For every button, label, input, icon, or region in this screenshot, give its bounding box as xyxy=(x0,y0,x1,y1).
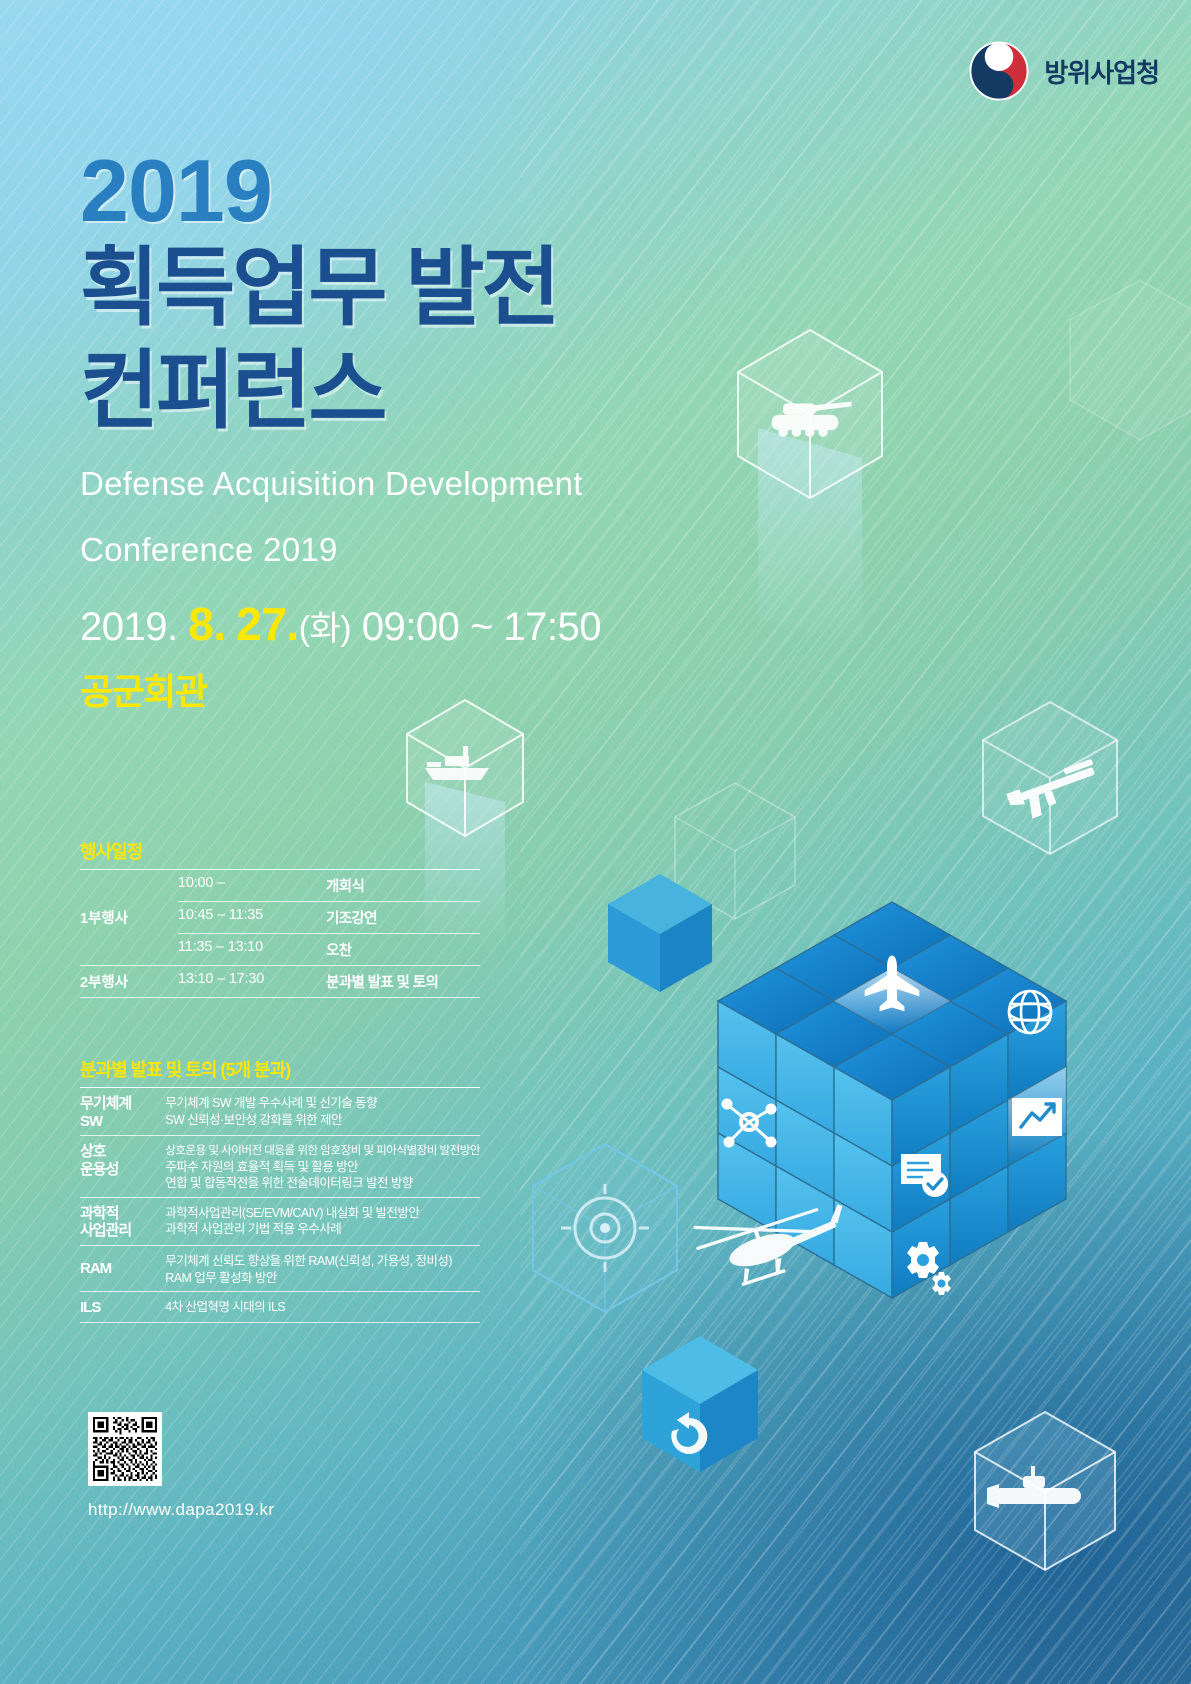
tank-cube-graphic xyxy=(710,318,910,648)
session-name-line1: 상호 xyxy=(80,1143,165,1161)
schedule-topic: 개회식 xyxy=(326,870,480,902)
schedule-heading: 행사일정 xyxy=(80,838,480,864)
schedule-time: 10:00 – xyxy=(178,870,326,902)
table-row: 10:00 – 개회식 xyxy=(80,870,480,902)
table-row: 과학적 사업관리 과학적사업관리(SE/EVM/CAIV) 내실화 및 발전방안… xyxy=(80,1197,480,1245)
qr-footer: http://www.dapa2019.kr xyxy=(88,1412,274,1520)
event-date-line: 2019. 8. 27.(화) 09:00 ~ 17:50 xyxy=(80,597,720,651)
schedule-table: 10:00 – 개회식 1부행사 10:45 – 11:35 기조강연 11:3… xyxy=(80,869,480,998)
session-topics: 4차 산업혁명 시대의 ILS xyxy=(165,1292,480,1323)
schedule-part: 2부행사 xyxy=(80,966,178,998)
table-row: 무기체계 SW 무기체계 SW 개발 우수사례 및 신기술 동향 SW 신뢰성·… xyxy=(80,1088,480,1136)
session-topics: 무기체계 신뢰도 향상을 위한 RAM(신뢰성, 가용성, 정비성) RAM 업… xyxy=(165,1246,480,1292)
session-name: 과학적 사업관리 xyxy=(80,1197,165,1245)
agency-logo: 방위사업청 xyxy=(968,40,1159,102)
session-name-line1: RAM xyxy=(80,1260,165,1278)
korea-taegeuk-emblem-icon xyxy=(968,40,1030,102)
airplane-icon xyxy=(865,955,920,1011)
date-month: 8. xyxy=(188,598,225,650)
qr-code-icon[interactable] xyxy=(88,1412,162,1486)
schedule-time: 10:45 – 11:35 xyxy=(178,902,326,934)
submarine-cube-graphic xyxy=(945,1400,1145,1600)
schedule-part xyxy=(80,870,178,902)
refresh-cube-graphic xyxy=(630,1330,770,1480)
date-weekday: (화) xyxy=(299,610,351,648)
gears-icon xyxy=(907,1242,951,1295)
event-venue: 공군회관 xyxy=(80,663,720,715)
crosshair-cube-graphic xyxy=(505,1130,705,1330)
session-name-line2: 사업관리 xyxy=(80,1222,165,1240)
session-name: 무기체계 SW xyxy=(80,1088,165,1136)
ghost-cube-graphic xyxy=(660,775,810,925)
schedule-topic: 분과별 발표 및 토의 xyxy=(326,966,480,998)
schedule-part: 1부행사 xyxy=(80,902,178,934)
schedule-section: 행사일정 10:00 – 개회식 1부행사 10:45 – 11:35 기조강연… xyxy=(80,838,480,998)
poster-title-en-line2: Conference 2019 xyxy=(80,529,720,571)
table-row: 11:35 – 13:10 오찬 xyxy=(80,934,480,966)
poster-title-en-line1: Defense Acquisition Development xyxy=(80,463,720,505)
event-time-range: 09:00 ~ 17:50 xyxy=(362,605,601,649)
poster-root: 방위사업청 2019 획득업무 발전 컨퍼런스 Defense Acquisit… xyxy=(0,0,1191,1684)
small-solid-cube-graphic xyxy=(600,868,720,998)
table-row: 1부행사 10:45 – 11:35 기조강연 xyxy=(80,902,480,934)
chart-trend-icon xyxy=(1012,1098,1062,1136)
session-name-line1: 과학적 xyxy=(80,1205,165,1223)
sessions-section: 분과별 발표 및 토의 (5개 분과) 무기체계 SW 무기체계 SW 개발 우… xyxy=(80,1056,480,1323)
website-url[interactable]: http://www.dapa2019.kr xyxy=(88,1500,274,1520)
faint-cube-far-right xyxy=(1050,270,1191,470)
poster-title-ko-line1: 획득업무 발전 xyxy=(80,240,720,336)
session-topic: 과학적 사업관리 기법 적용 우수사례 xyxy=(165,1221,480,1238)
helicopter-icon xyxy=(689,1180,856,1296)
table-row: 상호 운용성 상호운용 및 사이버전 대응을 위한 암호장비 및 피아식별장비 … xyxy=(80,1136,480,1197)
sessions-table: 무기체계 SW 무기체계 SW 개발 우수사례 및 신기술 동향 SW 신뢰성·… xyxy=(80,1087,480,1323)
session-name-line1: 무기체계 xyxy=(80,1095,165,1113)
session-name-line2: 운용성 xyxy=(80,1161,165,1179)
schedule-time: 11:35 – 13:10 xyxy=(178,934,326,966)
title-block: 2019 획득업무 발전 컨퍼런스 Defense Acquisition De… xyxy=(80,148,720,715)
session-name: RAM xyxy=(80,1246,165,1292)
schedule-part xyxy=(80,934,178,966)
globe-icon xyxy=(1009,991,1051,1033)
session-topic: 무기체계 신뢰도 향상을 위한 RAM(신뢰성, 가용성, 정비성) xyxy=(165,1253,480,1270)
schedule-time: 13:10 – 17:30 xyxy=(178,966,326,998)
table-row: ILS 4차 산업혁명 시대의 ILS xyxy=(80,1292,480,1323)
table-row: 2부행사 13:10 – 17:30 분과별 발표 및 토의 xyxy=(80,966,480,998)
date-day: 27. xyxy=(236,598,298,650)
network-node-icon xyxy=(722,1099,777,1148)
schedule-topic: 오찬 xyxy=(326,934,480,966)
session-name: 상호 운용성 xyxy=(80,1136,165,1197)
schedule-topic: 기조강연 xyxy=(326,902,480,934)
session-topic: RAM 업무 활성화 방안 xyxy=(165,1270,480,1287)
session-name: ILS xyxy=(80,1292,165,1323)
session-name-line1: ILS xyxy=(80,1299,165,1317)
agency-name: 방위사업청 xyxy=(1044,53,1159,90)
session-topic: 주파수 자원의 효율적 획득 및 활용 방안 xyxy=(165,1159,480,1176)
rifle-cube-graphic xyxy=(955,690,1145,880)
session-topics: 과학적사업관리(SE/EVM/CAIV) 내실화 및 발전방안 과학적 사업관리… xyxy=(165,1197,480,1245)
session-topic: 연합 및 합동작전을 위한 전술데이터링크 발전 방향 xyxy=(165,1175,480,1192)
poster-title-ko-line2: 컨퍼런스 xyxy=(80,343,720,439)
session-topics: 상호운용 및 사이버전 대응을 위한 암호장비 및 피아식별장비 발전방안 주파… xyxy=(165,1136,480,1197)
date-year: 2019. xyxy=(80,605,178,649)
session-topic: 무기체계 SW 개발 우수사례 및 신기술 동향 xyxy=(165,1095,480,1112)
session-topics: 무기체계 SW 개발 우수사례 및 신기술 동향 SW 신뢰성·보안성 강화를 … xyxy=(165,1088,480,1136)
session-name-line2: SW xyxy=(80,1113,165,1131)
main-isometric-cube-graphic xyxy=(632,872,1152,1432)
table-row: RAM 무기체계 신뢰도 향상을 위한 RAM(신뢰성, 가용성, 정비성) R… xyxy=(80,1246,480,1292)
poster-year: 2019 xyxy=(80,148,720,234)
sessions-heading: 분과별 발표 및 토의 (5개 분과) xyxy=(80,1056,480,1082)
session-topic: 상호운용 및 사이버전 대응을 위한 암호장비 및 피아식별장비 발전방안 xyxy=(165,1143,480,1158)
session-topic: 과학적사업관리(SE/EVM/CAIV) 내실화 및 발전방안 xyxy=(165,1205,480,1222)
session-topic: 4차 산업혁명 시대의 ILS xyxy=(165,1299,480,1316)
session-topic: SW 신뢰성·보안성 강화를 위한 제안 xyxy=(165,1112,480,1129)
document-check-icon xyxy=(901,1154,948,1197)
